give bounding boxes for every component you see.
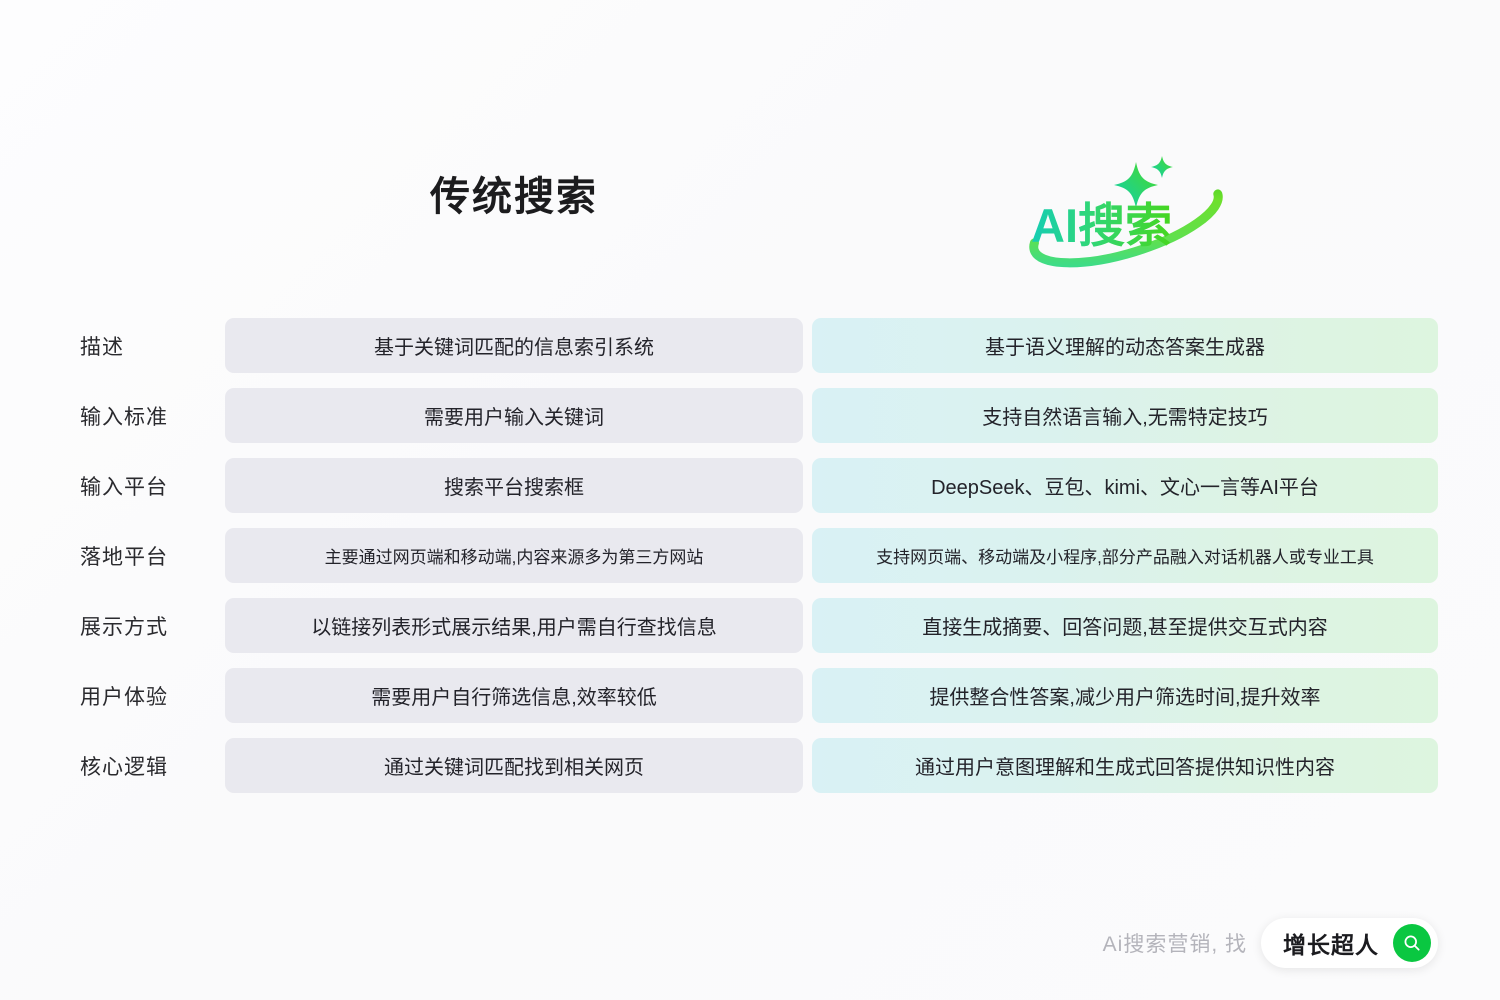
sparkle-star-small-icon <box>1151 156 1173 178</box>
row-label-0: 描述 <box>80 318 124 373</box>
cell-ai-0: 基于语义理解的动态答案生成器 <box>812 318 1438 373</box>
table-row: 展示方式以链接列表形式展示结果,用户需自行查找信息直接生成摘要、回答问题,甚至提… <box>0 598 1500 653</box>
cell-traditional-6: 通过关键词匹配找到相关网页 <box>225 738 803 793</box>
comparison-headers: 传统搜索 <box>0 150 1500 280</box>
footer-branding: Ai搜索营销, 找 增长超人 <box>1103 918 1438 968</box>
row-label-4: 展示方式 <box>80 598 168 653</box>
search-button[interactable] <box>1393 924 1431 962</box>
table-row: 用户体验需要用户自行筛选信息,效率较低提供整合性答案,减少用户筛选时间,提升效率 <box>0 668 1500 723</box>
cell-ai-2: DeepSeek、豆包、kimi、文心一言等AI平台 <box>812 458 1438 513</box>
footer-tagline: Ai搜索营销, 找 <box>1103 928 1247 958</box>
ai-search-logo: AI搜索 <box>812 150 1438 280</box>
table-row: 输入标准需要用户输入关键词支持自然语言输入,无需特定技巧 <box>0 388 1500 443</box>
cell-ai-3: 支持网页端、移动端及小程序,部分产品融入对话机器人或专业工具 <box>812 528 1438 583</box>
cell-traditional-1: 需要用户输入关键词 <box>225 388 803 443</box>
cell-traditional-3: 主要通过网页端和移动端,内容来源多为第三方网站 <box>225 528 803 583</box>
cell-traditional-4: 以链接列表形式展示结果,用户需自行查找信息 <box>225 598 803 653</box>
ai-search-logo-svg: AI搜索 <box>1010 150 1240 280</box>
brand-name: 增长超人 <box>1283 926 1379 960</box>
table-row: 输入平台搜索平台搜索框DeepSeek、豆包、kimi、文心一言等AI平台 <box>0 458 1500 513</box>
row-label-2: 输入平台 <box>80 458 168 513</box>
table-row: 描述基于关键词匹配的信息索引系统基于语义理解的动态答案生成器 <box>0 318 1500 373</box>
table-row: 落地平台主要通过网页端和移动端,内容来源多为第三方网站支持网页端、移动端及小程序… <box>0 528 1500 583</box>
cell-traditional-2: 搜索平台搜索框 <box>225 458 803 513</box>
cell-ai-5: 提供整合性答案,减少用户筛选时间,提升效率 <box>812 668 1438 723</box>
slide-canvas: 传统搜索 <box>0 0 1500 1000</box>
ai-search-logo-text: AI搜索 <box>1031 199 1172 252</box>
page-title-traditional-search: 传统搜索 <box>225 164 803 222</box>
cell-traditional-0: 基于关键词匹配的信息索引系统 <box>225 318 803 373</box>
brand-pill[interactable]: 增长超人 <box>1261 918 1438 968</box>
cell-ai-4: 直接生成摘要、回答问题,甚至提供交互式内容 <box>812 598 1438 653</box>
table-row: 核心逻辑通过关键词匹配找到相关网页通过用户意图理解和生成式回答提供知识性内容 <box>0 738 1500 793</box>
search-icon <box>1402 933 1422 953</box>
row-label-6: 核心逻辑 <box>80 738 168 793</box>
row-label-5: 用户体验 <box>80 668 168 723</box>
row-label-1: 输入标准 <box>80 388 168 443</box>
row-label-3: 落地平台 <box>80 528 168 583</box>
comparison-table: 描述基于关键词匹配的信息索引系统基于语义理解的动态答案生成器输入标准需要用户输入… <box>0 318 1500 808</box>
cell-ai-6: 通过用户意图理解和生成式回答提供知识性内容 <box>812 738 1438 793</box>
cell-ai-1: 支持自然语言输入,无需特定技巧 <box>812 388 1438 443</box>
cell-traditional-5: 需要用户自行筛选信息,效率较低 <box>225 668 803 723</box>
